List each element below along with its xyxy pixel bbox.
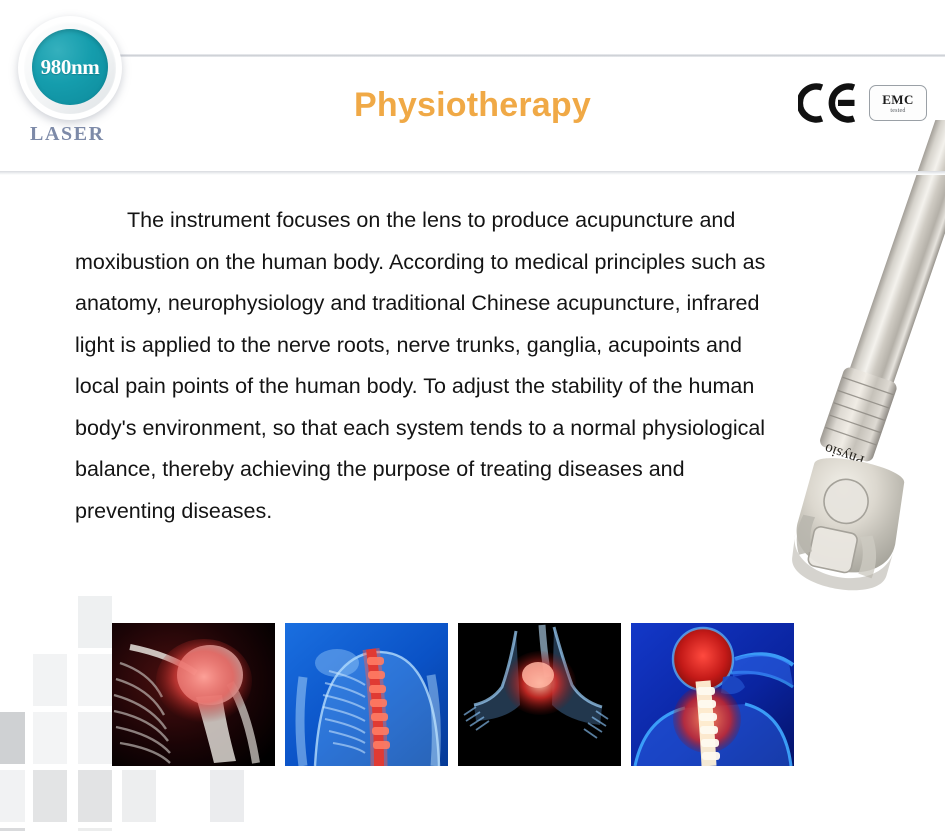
header-bottom-rule [0, 171, 945, 175]
emc-badge-primary-label: EMC [882, 93, 914, 106]
mosaic-tile [78, 654, 112, 706]
mosaic-tile [0, 770, 25, 822]
description-paragraph: The instrument focuses on the lens to pr… [75, 200, 775, 532]
logo-laser-label: LASER [30, 123, 105, 146]
mosaic-tile [122, 770, 156, 822]
gallery-item-upper-back-spine-pain[interactable] [285, 623, 448, 766]
page-header: 980nm LASER Physiotherapy EMC tested [0, 0, 945, 172]
condition-gallery [112, 623, 794, 766]
certification-marks: EMC tested [798, 82, 927, 124]
mosaic-tile [78, 770, 112, 822]
mosaic-tile [33, 770, 67, 822]
gallery-item-neck-cervical-pain[interactable] [631, 623, 794, 766]
emc-badge-secondary-label: tested [890, 108, 905, 114]
mosaic-tile [0, 712, 25, 764]
mosaic-tile [33, 654, 67, 706]
ce-mark-icon [798, 82, 860, 124]
mosaic-tile [210, 770, 244, 822]
slide-canvas: 980nm LASER Physiotherapy EMC tested The… [0, 0, 945, 831]
header-top-rule [112, 54, 945, 57]
mosaic-tile [33, 712, 67, 764]
gallery-item-ankle-joint-pain[interactable] [458, 623, 621, 766]
mosaic-tile [78, 712, 112, 764]
emc-tested-badge: EMC tested [869, 85, 927, 121]
gallery-item-shoulder-pain-xray[interactable] [112, 623, 275, 766]
mosaic-tile [78, 596, 112, 648]
product-collar-engraving: Physio [823, 440, 867, 468]
logo-wavelength-label: 980nm [41, 57, 100, 78]
